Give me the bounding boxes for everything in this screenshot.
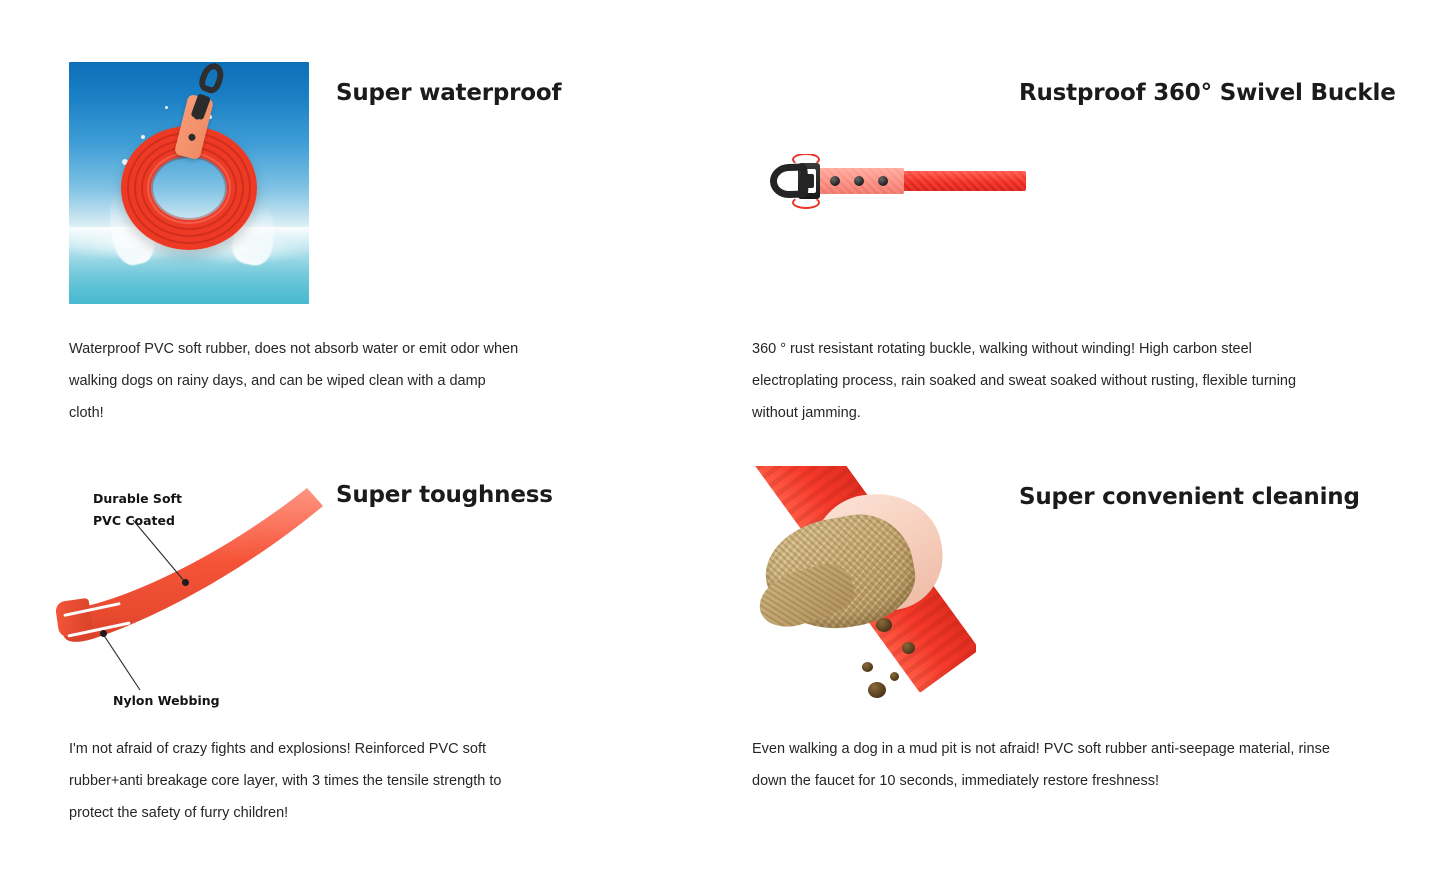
mud-spot <box>890 672 899 681</box>
callout-label-nylon: Nylon Webbing <box>113 690 220 712</box>
feature-body-swivel-buckle: 360 ° rust resistant rotating buckle, wa… <box>752 333 1297 429</box>
mud-spot <box>862 662 873 672</box>
snap-hook <box>770 163 809 198</box>
coil-strand <box>141 146 237 230</box>
feature-body-cleaning: Even walking a dog in a mud pit is not a… <box>752 733 1367 797</box>
mud-spot <box>902 642 915 654</box>
feature-heading-waterproof: Super waterproof <box>336 82 561 105</box>
mud-spot <box>876 618 892 632</box>
callout-dot-pvc <box>182 579 189 586</box>
spray-droplet <box>165 106 168 109</box>
feature-body-toughness: I'm not afraid of crazy fights and explo… <box>69 733 519 829</box>
waterproof-leash-photo <box>69 62 309 304</box>
product-feature-page: Super waterproof Waterproof PVC soft rub… <box>0 0 1440 891</box>
coiled-leash <box>121 126 257 250</box>
feature-body-waterproof: Waterproof PVC soft rubber, does not abs… <box>69 333 524 429</box>
strap-rivet <box>878 176 888 186</box>
mud-spot <box>868 682 886 698</box>
feature-block-cleaning: Super convenient cleaning <box>752 466 1392 716</box>
feature-heading-cleaning: Super convenient cleaning <box>1019 486 1360 509</box>
hook-barrel <box>190 93 210 120</box>
callout-line: PVC Coated <box>93 510 182 532</box>
feature-heading-swivel-buckle: Rustproof 360° Swivel Buckle <box>1019 82 1396 105</box>
feature-heading-toughness: Super toughness <box>336 484 553 507</box>
callout-line: Durable Soft <box>93 488 182 510</box>
cleaning-photo <box>752 466 976 704</box>
feature-block-toughness: Durable Soft PVC Coated Nylon Webbing Su… <box>55 462 695 712</box>
red-webbing <box>896 171 1026 191</box>
swivel-buckle-illustration <box>770 154 1040 214</box>
feature-block-swivel-buckle: Rustproof 360° Swivel Buckle <box>752 62 1392 312</box>
callout-label-pvc: Durable Soft PVC Coated <box>93 488 182 532</box>
rotation-arrow-bottom-icon <box>792 196 820 209</box>
strap-cutaway-diagram: Durable Soft PVC Coated Nylon Webbing <box>55 462 345 712</box>
feature-block-waterproof: Super waterproof <box>69 62 689 312</box>
strap-rivet <box>830 176 840 186</box>
tab-rivet <box>187 133 195 141</box>
strap-rivet <box>854 176 864 186</box>
snap-hook <box>183 62 231 123</box>
callout-dot-nylon <box>100 630 107 637</box>
hook-eye <box>196 62 227 96</box>
callout-line: Nylon Webbing <box>113 690 220 712</box>
